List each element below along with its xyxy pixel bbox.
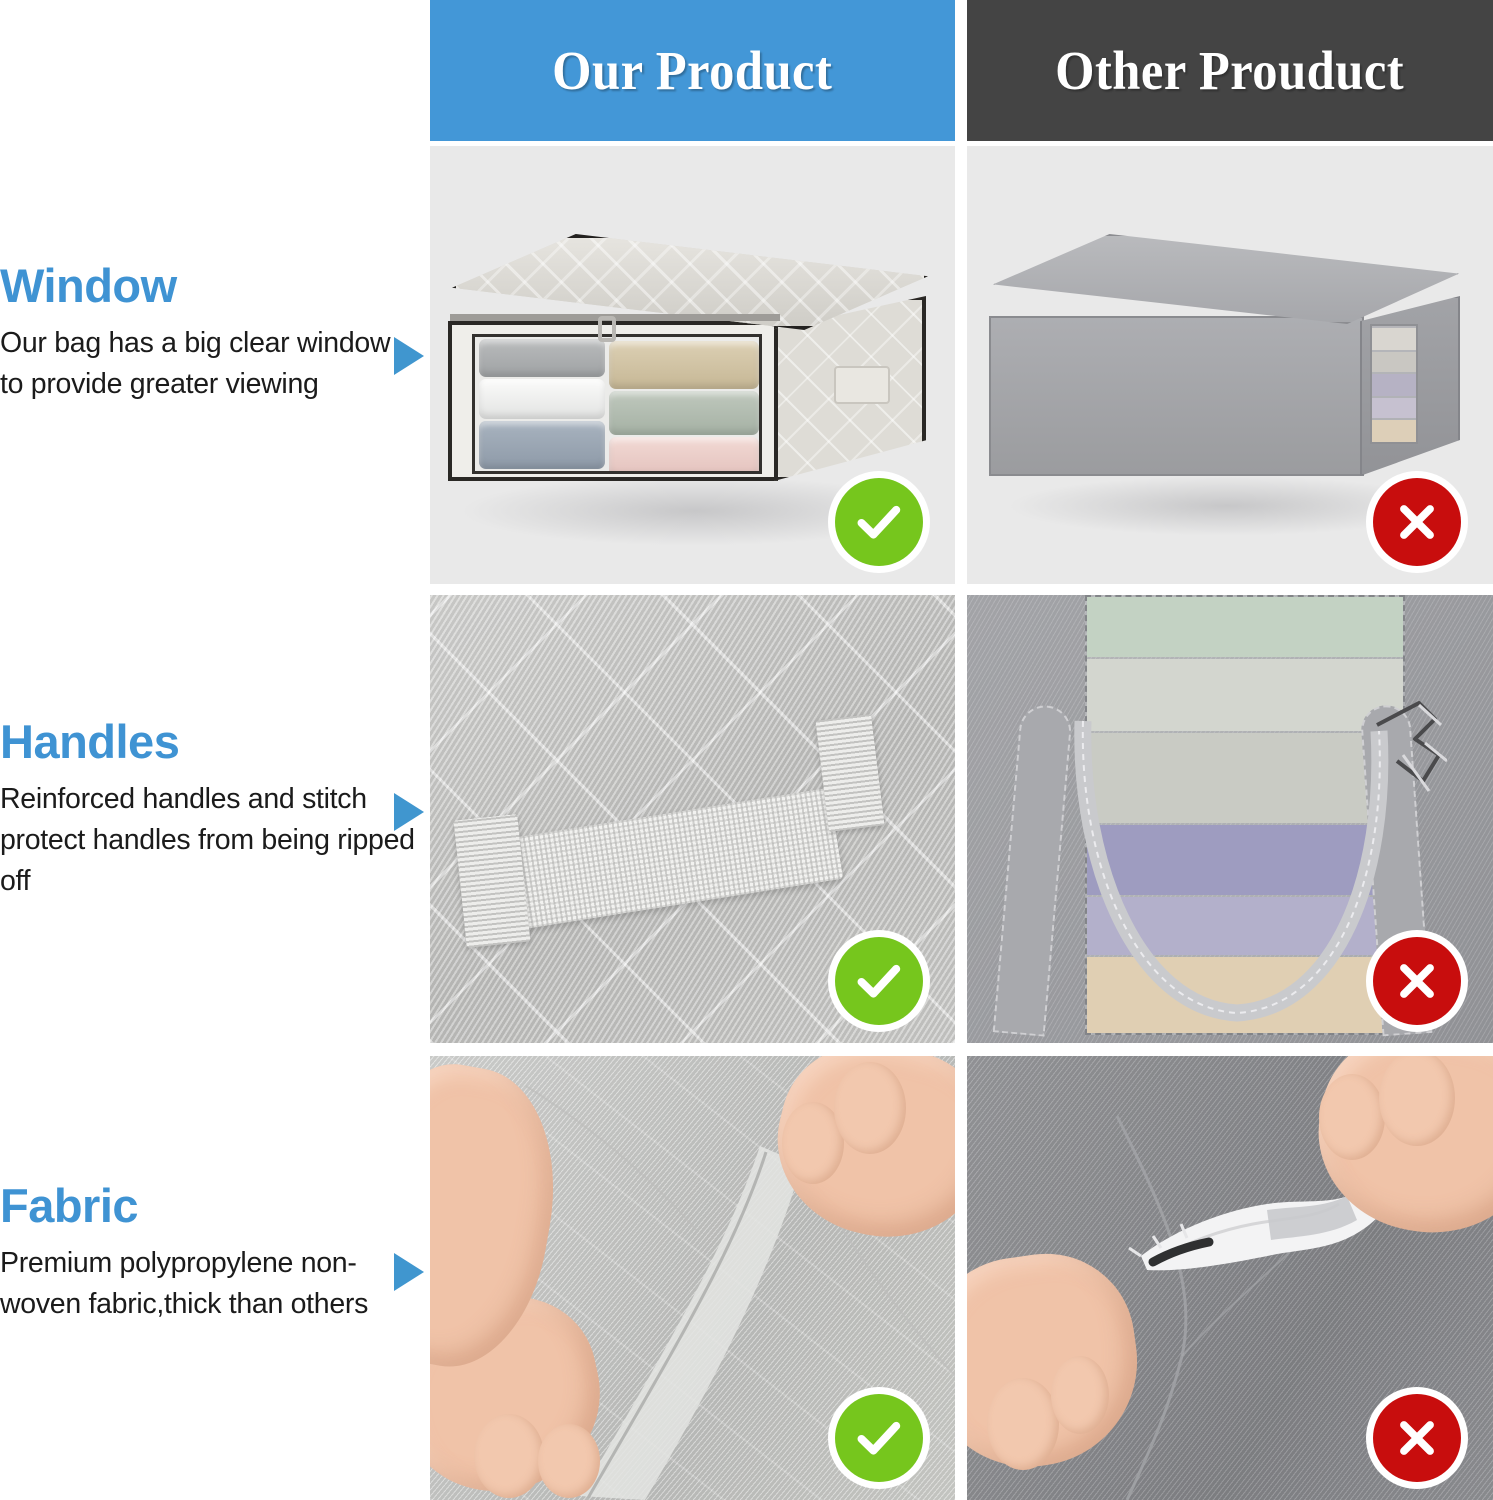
column-header-other-product: Other Prouduct [967, 0, 1493, 141]
verdict-badge-pass [835, 478, 923, 566]
verdict-badge-pass [835, 937, 923, 1025]
feature-fabric-our-image [430, 1056, 955, 1500]
feature-fabric-arrow-icon [394, 1253, 424, 1291]
feature-fabric-text: Fabric Premium polypropylene non-woven f… [0, 1182, 430, 1325]
cross-icon [1389, 1410, 1445, 1466]
column-header-other-product-label: Other Prouduct [1056, 39, 1405, 102]
check-icon [851, 953, 907, 1009]
feature-window-our-image [430, 146, 955, 584]
feature-handles-title: Handles [0, 718, 430, 765]
verdict-badge-pass [835, 1394, 923, 1482]
check-icon [851, 1410, 907, 1466]
feature-handles-our-image [430, 595, 955, 1043]
column-header-our-product: Our Product [430, 0, 955, 141]
cross-icon [1389, 953, 1445, 1009]
column-header-our-product-label: Our Product [552, 39, 832, 102]
cross-icon [1389, 494, 1445, 550]
feature-fabric-title: Fabric [0, 1182, 430, 1229]
comparison-infographic: Our Product Other Prouduct Window Our ba… [0, 0, 1493, 1500]
feature-window-other-image [967, 146, 1493, 584]
feature-fabric-description: Premium polypropylene non-woven fabric,t… [0, 1243, 420, 1325]
check-icon [851, 494, 907, 550]
feature-fabric-other-image [967, 1056, 1493, 1500]
verdict-badge-fail [1373, 937, 1461, 1025]
feature-handles-other-image [967, 595, 1493, 1043]
feature-window-title: Window [0, 262, 430, 309]
feature-window-description: Our bag has a big clear window to provid… [0, 323, 420, 405]
verdict-badge-fail [1373, 1394, 1461, 1482]
feature-handles-text: Handles Reinforced handles and stitch pr… [0, 718, 430, 902]
zipper-pull-icon [598, 316, 616, 342]
verdict-badge-fail [1373, 478, 1461, 566]
feature-window-arrow-icon [394, 337, 424, 375]
feature-handles-description: Reinforced handles and stitch protect ha… [0, 779, 420, 902]
feature-handles-arrow-icon [394, 793, 424, 831]
feature-window-text: Window Our bag has a big clear window to… [0, 262, 430, 405]
